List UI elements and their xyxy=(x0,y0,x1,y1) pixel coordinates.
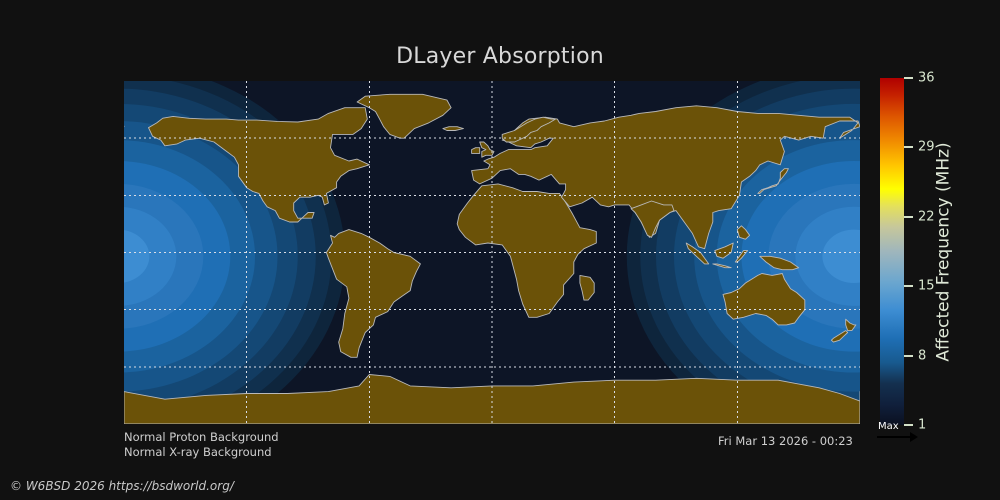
xray-background-note: Normal X-ray Background xyxy=(124,445,272,459)
colorbar-tick-label: 8 xyxy=(918,348,926,363)
colorbar-tick xyxy=(904,146,913,148)
max-arrow-icon xyxy=(876,431,918,443)
colorbar[interactable]: 1815222936 Max xyxy=(880,78,904,425)
proton-background-note: Normal Proton Background xyxy=(124,430,279,444)
world-map[interactable] xyxy=(124,81,860,424)
landmass xyxy=(472,148,480,154)
colorbar-tick xyxy=(904,77,913,79)
page-title: DLayer Absorption xyxy=(0,44,1000,69)
footer-credit: © W6BSD 2026 https://bsdworld.org/ xyxy=(10,479,234,493)
map-canvas xyxy=(124,81,860,424)
max-annotation: Max xyxy=(876,423,920,443)
colorbar-axis-title-label: Affected Frequency (MHz) xyxy=(934,142,954,361)
colorbar-tick xyxy=(904,285,913,287)
page-root: DLayer Absorption 1815222936 Max Affect xyxy=(0,0,1000,500)
colorbar-axis-title: Affected Frequency (MHz) xyxy=(929,78,959,425)
colorbar-tick xyxy=(904,216,913,218)
timestamp-label: Fri Mar 13 2026 - 00:23 xyxy=(718,434,853,448)
colorbar-tick xyxy=(904,355,913,357)
colorbar-gradient xyxy=(880,78,904,425)
